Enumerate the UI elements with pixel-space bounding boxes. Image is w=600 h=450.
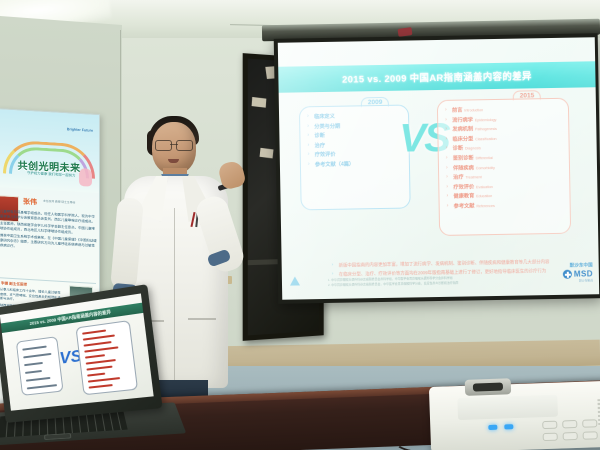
list-item-en: Diagnosis: [465, 147, 481, 151]
list-2009: 临床定义分类与分期诊断治疗疗效评价参考文献（4篇）: [300, 106, 409, 175]
slide-column-2009: 临床定义分类与分期诊断治疗疗效评价参考文献（4篇）: [299, 104, 411, 210]
banner-bio-paragraph: 曾获中国卫生系统学术成果奖，在《中国儿童保健》《中国妇幼健康研究杂志》编委，主要…: [0, 233, 97, 254]
triangle-logo-icon: [290, 276, 300, 285]
sponsor-cn-name: 默沙东中国: [563, 262, 593, 269]
list-item-en: Treatment: [466, 175, 482, 179]
projection-screen-frame: 2015 vs. 2009 中国AR指南涵盖内容的差异 2009 2015 临床…: [274, 33, 600, 304]
projector[interactable]: [429, 381, 600, 450]
projection-screen: 2015 vs. 2009 中国AR指南涵盖内容的差异 2009 2015 临床…: [278, 37, 599, 299]
list-item-en: Epidemiology: [475, 118, 497, 122]
glasses-icon: [155, 140, 193, 149]
list-item-en: Comorbidity: [476, 166, 495, 170]
list-item: 参考文献References: [447, 201, 565, 213]
sponsor-logo: 默沙东中国 MSD 默沙东制药: [563, 262, 593, 283]
msd-cross-icon: [563, 270, 572, 279]
lecture-room-photo: 2015 vs. 2009 中国AR指南涵盖内容的差异 2009 2015 临床…: [0, 0, 600, 450]
list-item-en: Introduction: [464, 108, 483, 112]
list-item-en: Pathogenesis: [475, 127, 497, 131]
laptop-column-2009: [16, 336, 64, 396]
laptop[interactable]: 2015 vs. 2009 中国AR指南涵盖内容的差异 VS: [0, 296, 184, 446]
banner-mascot-icon: [79, 168, 92, 187]
list-item-en: Differential: [476, 156, 493, 160]
taped-paper: [260, 148, 274, 159]
laptop-lid: 2015 vs. 2009 中国AR指南涵盖内容的差异 VS: [0, 284, 163, 423]
banner-person-title: 主任医师 教授 硕士生导师: [43, 200, 75, 206]
slide-title-bar: 2015 vs. 2009 中国AR指南涵盖内容的差异: [278, 61, 595, 93]
list-item-en: Evaluation: [476, 185, 493, 189]
banner-person-name: 张伟: [23, 197, 37, 208]
list-item-en: Classification: [475, 137, 496, 141]
lamp-led-icon: [504, 424, 513, 429]
list-item-en: Education: [476, 194, 492, 198]
power-led-icon: [488, 425, 497, 430]
laptop-touchpad[interactable]: [44, 433, 71, 440]
laptop-column-2015: [76, 320, 139, 395]
list-2015: 前言Introduction流行病学Epidemiology发病机制Pathog…: [438, 99, 570, 217]
list-item: 参考文献（4篇）: [308, 160, 404, 171]
presentation-slide: 2015 vs. 2009 中国AR指南涵盖内容的差异 2009 2015 临床…: [278, 37, 599, 299]
slide-title: 2015 vs. 2009 中国AR指南涵盖内容的差异: [342, 68, 532, 85]
sponsor-wordmark: MSD: [574, 269, 593, 278]
projector-buttons[interactable]: [542, 419, 600, 443]
list-item-en: References: [476, 204, 494, 208]
slide-column-2015: 前言Introduction流行病学Epidemiology发病机制Pathog…: [437, 98, 571, 236]
sponsor-tagline: 默沙东制药: [563, 278, 593, 283]
projector-top-panel: [457, 395, 558, 420]
coat-pocket-right: [188, 318, 216, 320]
projector-lens-icon: [465, 378, 512, 396]
banner-bio: 儿童呼吸与耳鼻喉学组成员，现任人和医学科学院人，现为中华医学会儿科学分会教育委员…: [0, 209, 97, 256]
projector-status-leds: [488, 423, 534, 430]
laptop-screen[interactable]: 2015 vs. 2009 中国AR指南涵盖内容的差异 VS: [0, 293, 154, 410]
taped-paper: [252, 97, 267, 108]
